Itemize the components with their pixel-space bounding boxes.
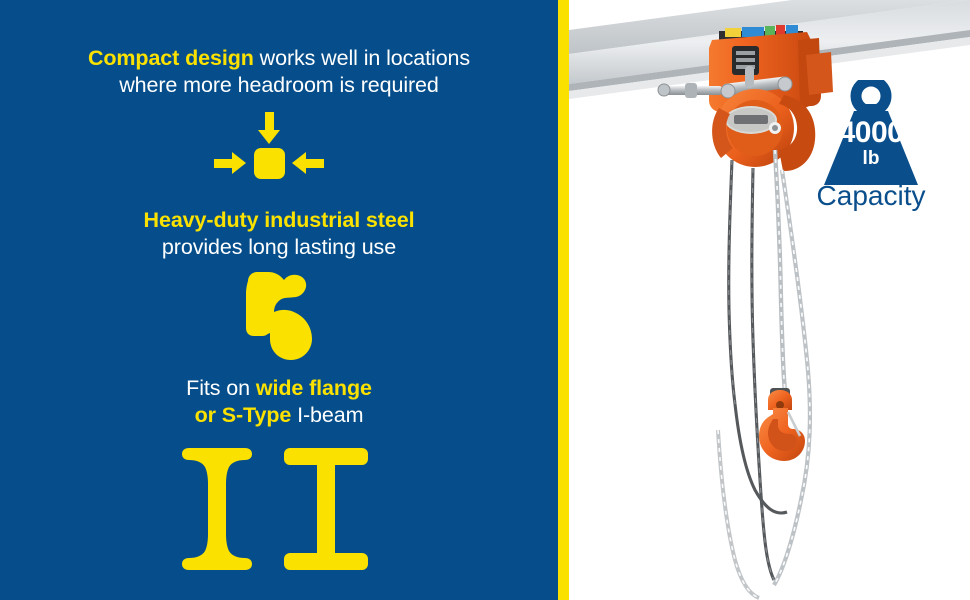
compact-center-square <box>254 148 285 179</box>
feature-3-line2-bold: or S-Type <box>195 403 292 427</box>
s-type-beam-shape <box>182 448 252 570</box>
feature-heavy-duty-text: Heavy-duty industrial steel provides lon… <box>0 207 558 261</box>
compress-arrows-icon <box>204 112 334 184</box>
feature-1-bold: Compact design <box>88 46 254 70</box>
i-beam-icon <box>172 448 368 570</box>
panel-divider <box>558 0 569 600</box>
feature-beam-fit-text: Fits on wide flange or S-Type I-beam <box>0 375 558 429</box>
feature-2-line2: provides long lasting use <box>0 234 558 261</box>
capacity-label: Capacity <box>798 180 944 212</box>
feature-3-line2-rest: I-beam <box>291 403 363 427</box>
arrow-right-head <box>232 152 246 174</box>
capacity-number: 4000 <box>806 118 936 148</box>
capacity-badge: 4000 lb Capacity <box>806 80 936 220</box>
load-hook <box>759 388 805 461</box>
feature-3-bold: wide flange <box>256 376 372 400</box>
promo-banner: Compact design works well in locations w… <box>0 0 970 600</box>
feature-1-line2: where more headroom is required <box>0 72 558 99</box>
wide-flange-beam-shape <box>284 448 368 570</box>
feature-compact-design-text: Compact design works well in locations w… <box>0 45 558 99</box>
arrow-left-head <box>292 152 306 174</box>
arrow-left-shaft <box>303 159 324 168</box>
arrow-down-head <box>258 130 280 144</box>
feature-1-rest: works well in locations <box>254 46 470 70</box>
hand-chain <box>729 160 774 580</box>
feature-3-prefix: Fits on <box>186 376 256 400</box>
flexed-bicep-icon <box>218 272 328 360</box>
feature-2-bold: Heavy-duty industrial steel <box>144 208 415 232</box>
capacity-unit: lb <box>806 149 936 169</box>
